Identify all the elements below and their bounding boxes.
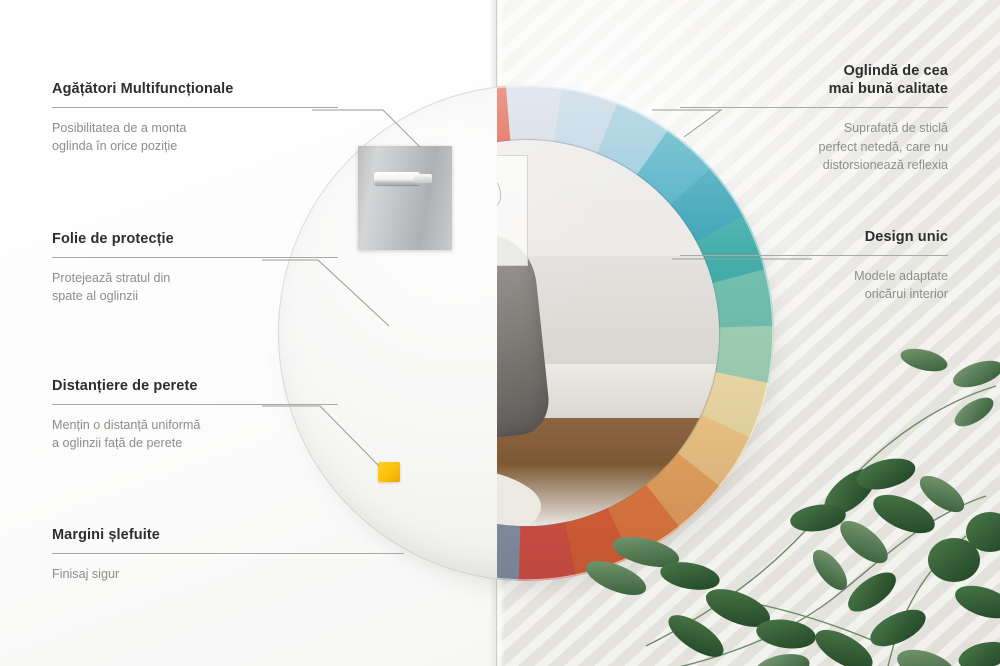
foliage-decoration: [586, 346, 1000, 666]
desc-line-2: spate al oglinzii: [52, 289, 138, 303]
infographic-canvas: Agățători Multifuncționale Posibilitatea…: [0, 0, 1000, 666]
title-line-2: mai bună calitate: [829, 81, 948, 97]
desc-line-3: distorsionează reflexia: [823, 158, 948, 172]
desc-line-1: Modele adaptate: [854, 269, 948, 283]
desc-line-2: oglinda în orice poziție: [52, 139, 177, 153]
wall-spacer-block: [378, 462, 400, 482]
title-line-1: Oglindă de cea: [843, 63, 948, 79]
desc-line-2: perfect netedă, care nu: [818, 140, 948, 154]
callout-rule: [680, 255, 948, 256]
callout-unique-design: Design unic Modele adaptate oricărui int…: [680, 228, 948, 304]
callout-unique-design-desc: Modele adaptate oricărui interior: [680, 267, 948, 304]
callout-polished-edges-desc: Finisaj sigur: [52, 565, 338, 583]
callout-hangers: Agățători Multifuncționale Posibilitatea…: [52, 80, 338, 156]
callout-polished-edges: Margini șlefuite Finisaj sigur: [52, 526, 338, 583]
callout-hangers-desc: Posibilitatea de a monta oglinda în oric…: [52, 119, 338, 156]
callout-wall-spacers-title: Distanțiere de perete: [52, 377, 338, 395]
desc-line-2: a oglinzii față de perete: [52, 436, 182, 450]
callout-mirror-quality-title: Oglindă de cea mai bună calitate: [680, 62, 948, 98]
callout-wall-spacers-desc: Mențin o distanță uniformă a oglinzii fa…: [52, 416, 338, 453]
desc-line-1: Mențin o distanță uniformă: [52, 418, 200, 432]
callout-protective-foil-desc: Protejează stratul din spate al oglinzii: [52, 269, 338, 306]
desc-line-1: Posibilitatea de a monta: [52, 121, 186, 135]
callout-wall-spacers: Distanțiere de perete Mențin o distanță …: [52, 377, 338, 453]
desc-line-1: Suprafață de sticlă: [844, 121, 948, 135]
desc-line-2: oricărui interior: [865, 287, 948, 301]
callout-rule: [52, 257, 338, 258]
callout-hangers-title: Agățători Multifuncționale: [52, 80, 338, 98]
callout-rule: [52, 404, 338, 405]
callout-rule: [680, 107, 948, 108]
callout-rule: [52, 553, 404, 554]
callout-mirror-quality: Oglindă de cea mai bună calitate Suprafa…: [680, 62, 948, 174]
hanger-plate: [358, 146, 452, 250]
callout-polished-edges-title: Margini șlefuite: [52, 526, 338, 544]
callout-protective-foil: Folie de protecție Protejează stratul di…: [52, 230, 338, 306]
callout-protective-foil-title: Folie de protecție: [52, 230, 338, 248]
callout-mirror-quality-desc: Suprafață de sticlă perfect netedă, care…: [680, 119, 948, 174]
callout-rule: [52, 107, 338, 108]
desc-line-1: Protejează stratul din: [52, 271, 170, 285]
callout-unique-design-title: Design unic: [680, 228, 948, 246]
desc-line-1: Finisaj sigur: [52, 567, 119, 581]
hanger-keyhole-tail: [414, 174, 432, 183]
